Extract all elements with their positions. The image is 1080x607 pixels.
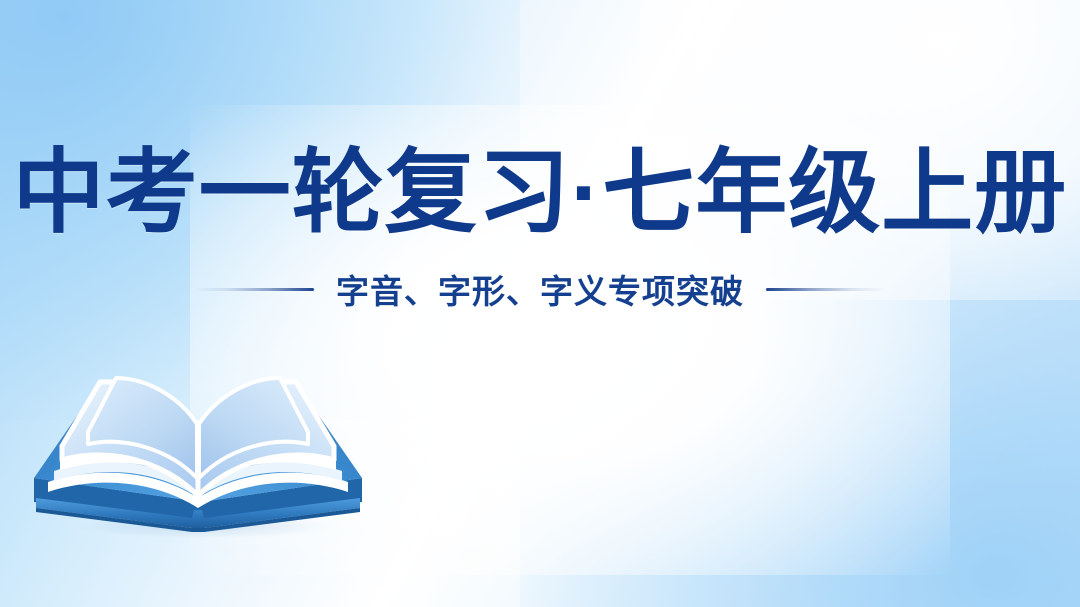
divider-line-right-icon (766, 288, 886, 291)
page-title: 中考一轮复习·七年级上册 (0, 146, 1080, 242)
page-subtitle: 字音、字形、字义专项突破 (336, 265, 744, 313)
title-slide: 中考一轮复习·七年级上册 字音、字形、字义专项突破 (0, 0, 1080, 607)
title-block: 中考一轮复习·七年级上册 (0, 146, 1080, 242)
open-book-icon (26, 358, 370, 538)
subtitle-row: 字音、字形、字义专项突破 (0, 265, 1080, 313)
divider-line-left-icon (194, 288, 314, 291)
